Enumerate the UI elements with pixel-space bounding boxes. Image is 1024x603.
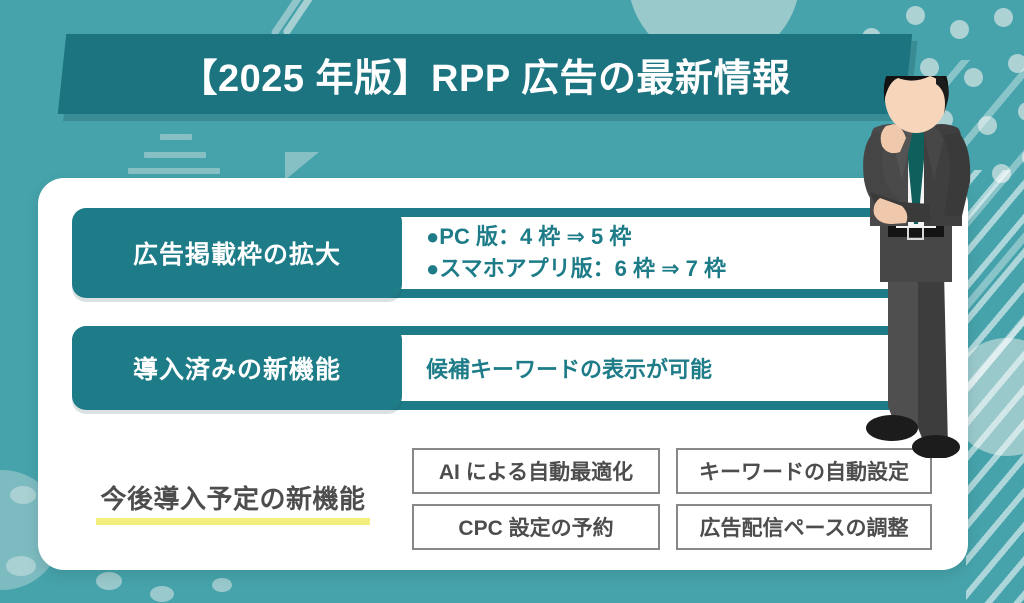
- page-title: 【2025 年版】RPP 広告の最新情報: [62, 34, 908, 114]
- upcoming-features-heading-text: 今後導入予定の新機能: [100, 479, 365, 520]
- chip-cpc-reservation: CPC 設定の予約: [412, 504, 660, 550]
- row-label-ad-slots: 広告掲載枠の拡大: [72, 208, 402, 298]
- chip-ai-optimization: AI による自動最適化: [412, 448, 660, 494]
- infographic-canvas: 【2025 年版】RPP 広告の最新情報 広告掲載枠の拡大 ●PC 版：4 枠 …: [0, 0, 1024, 603]
- feature-row-ad-slots: 広告掲載枠の拡大 ●PC 版：4 枠 ⇒ 5 枠 ●スマホアプリ版：6 枠 ⇒ …: [72, 208, 924, 298]
- businessman-thinking-illustration: [844, 76, 1004, 458]
- chip-delivery-pace-adjust: 広告配信ペースの調整: [676, 504, 932, 550]
- upcoming-features-section: 今後導入予定の新機能 AI による自動最適化 キーワードの自動設定 CPC 設定…: [72, 440, 932, 558]
- upcoming-features-heading: 今後導入予定の新機能: [72, 479, 394, 520]
- upcoming-features-chip-grid: AI による自動最適化 キーワードの自動設定 CPC 設定の予約 広告配信ペース…: [412, 448, 932, 550]
- row-label-released: 導入済みの新機能: [72, 326, 402, 410]
- decor-triangle: [285, 152, 319, 180]
- feature-row-released: 導入済みの新機能 候補キーワードの表示が可能: [72, 326, 924, 410]
